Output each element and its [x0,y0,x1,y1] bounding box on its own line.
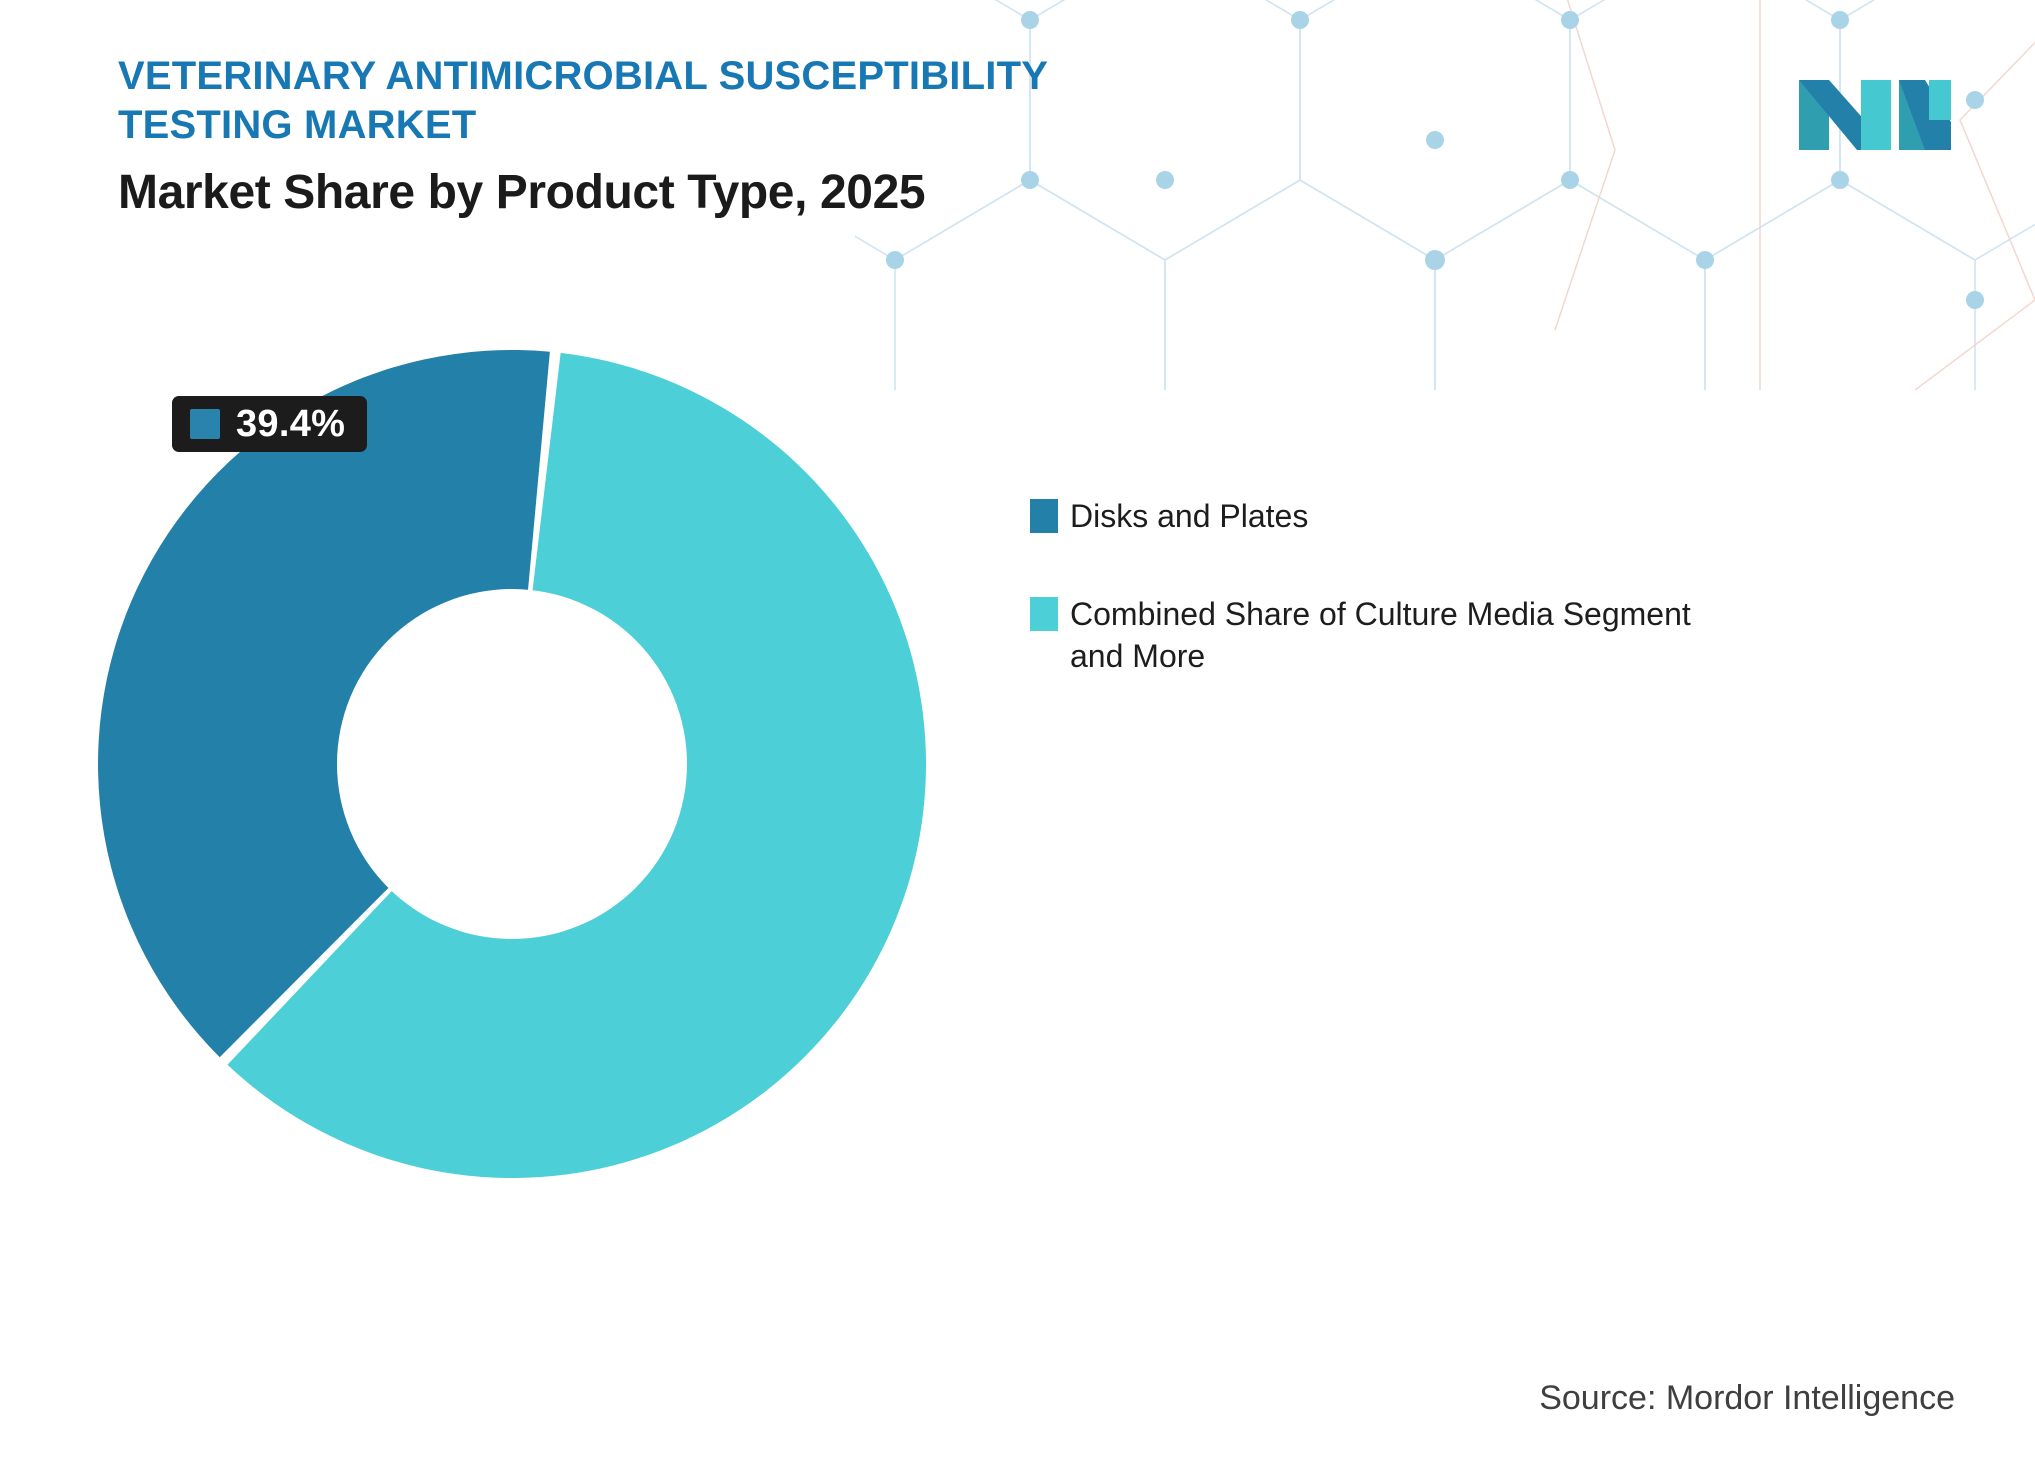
legend-swatch-combined-share [1030,597,1058,631]
donut-hole [337,589,687,939]
chart-legend: Disks and Plates Combined Share of Cultu… [1030,495,1770,678]
source-note: Source: Mordor Intelligence [1539,1379,1955,1418]
legend-item-combined-share[interactable]: Combined Share of Culture Media Segment … [1030,593,1770,677]
page-subtitle: Market Share by Product Type, 2025 [118,164,1298,222]
donut-chart [78,330,948,1200]
value-badge-disks-and-plates: 39.4% [172,396,367,452]
badge-value-label: 39.4% [236,405,345,443]
badge-color-swatch [190,409,220,439]
page-title: VETERINARY ANTIMICROBIAL SUSCEPTIBILITY … [118,52,1148,150]
legend-label-disks-and-plates: Disks and Plates [1070,495,1308,537]
legend-item-disks-and-plates[interactable]: Disks and Plates [1030,495,1770,537]
donut-chart-svg [78,330,948,1200]
legend-swatch-disks-and-plates [1030,499,1058,533]
legend-label-combined-share: Combined Share of Culture Media Segment … [1070,593,1710,677]
chart-header: VETERINARY ANTIMICROBIAL SUSCEPTIBILITY … [118,52,1298,221]
mordor-intelligence-logo-icon [1795,62,1955,150]
chart-page: VETERINARY ANTIMICROBIAL SUSCEPTIBILITY … [0,0,2035,1480]
